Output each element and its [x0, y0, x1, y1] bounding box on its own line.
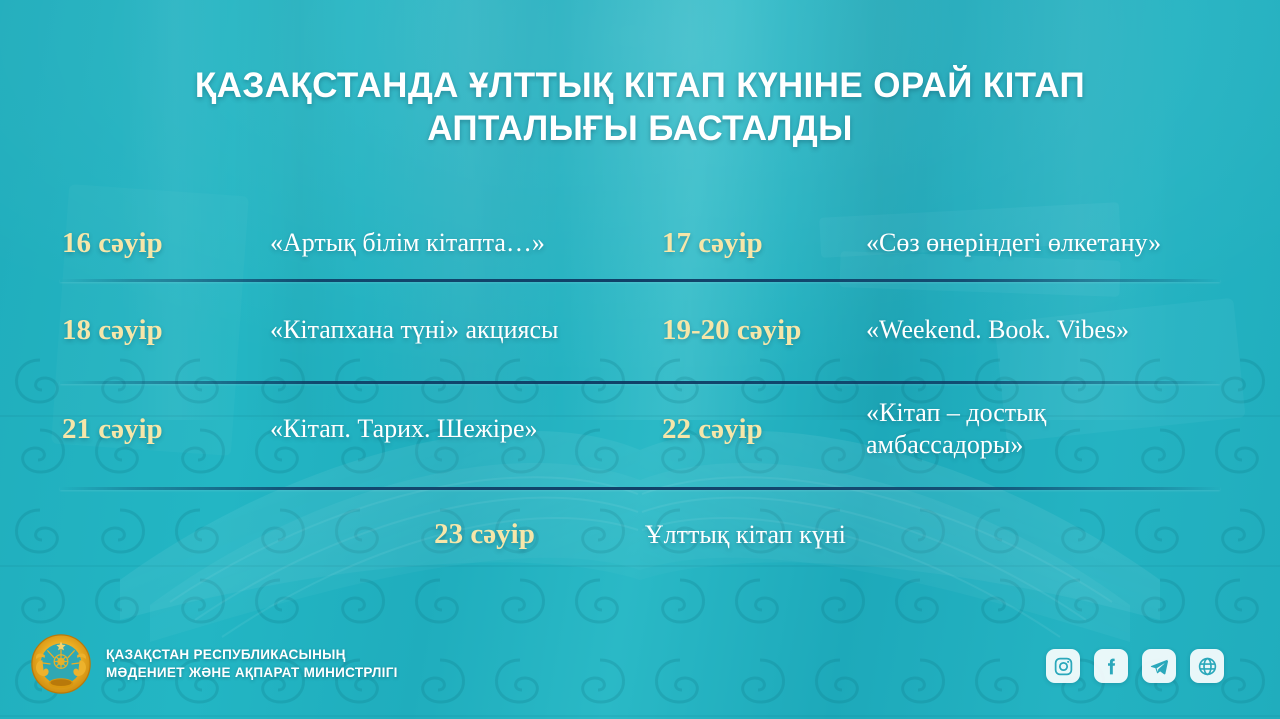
- schedule-event: Ұлттық кітап күні: [645, 519, 846, 551]
- schedule-date: 23 сәуір: [434, 518, 535, 551]
- ministry-name: ҚАЗАҚСТАН РЕСПУБЛИКАСЫНЫҢ МӘДЕНИЕТ ЖӘНЕ …: [106, 646, 398, 682]
- schedule-event: «Кітап. Тарих. Шежіре»: [270, 413, 538, 445]
- schedule-date: 19-20 сәуір: [662, 314, 866, 347]
- website-globe-icon[interactable]: [1190, 649, 1224, 683]
- schedule-cell-right: 22 сәуір «Кітап – достық амбассадоры»: [640, 379, 1280, 479]
- footer: ҚАЗАҚСТАН РЕСПУБЛИКАСЫНЫҢ МӘДЕНИЕТ ЖӘНЕ …: [0, 623, 1280, 719]
- infographic-slide: ҚАЗАҚСТАНДА ҰЛТТЫҚ КІТАП КҮНІНЕ ОРАЙ КІТ…: [0, 0, 1280, 719]
- social-links: [1046, 649, 1224, 683]
- schedule-event: «Сөз өнеріндегі өлкетану»: [866, 227, 1161, 259]
- schedule-grid: 16 сәуір «Артық білім кітапта…» 17 сәуір…: [0, 205, 1280, 479]
- schedule-event: «Артық білім кітапта…»: [270, 227, 545, 259]
- kazakhstan-state-emblem-icon: [30, 633, 92, 695]
- schedule-cell-left: 16 сәуір «Артық білім кітапта…»: [0, 205, 640, 281]
- schedule-cell-right: 19-20 сәуір «Weekend. Book. Vibes»: [640, 281, 1280, 379]
- schedule-event: «Кітап – достық амбассадоры»: [866, 397, 1096, 460]
- schedule-date: 18 сәуір: [62, 314, 270, 347]
- schedule-cell-left: 18 сәуір «Кітапхана түні» акциясы: [0, 281, 640, 379]
- schedule-date: 17 сәуір: [662, 227, 866, 260]
- facebook-icon[interactable]: [1094, 649, 1128, 683]
- schedule-event: «Кітапхана түні» акциясы: [270, 314, 558, 346]
- instagram-icon[interactable]: [1046, 649, 1080, 683]
- row-divider: [60, 279, 1220, 282]
- table-row: 21 сәуір «Кітап. Тарих. Шежіре» 22 сәуір…: [0, 379, 1280, 479]
- schedule-final-row: 23 сәуір Ұлттық кітап күні: [0, 518, 1280, 551]
- page-title: ҚАЗАҚСТАНДА ҰЛТТЫҚ КІТАП КҮНІНЕ ОРАЙ КІТ…: [0, 64, 1280, 151]
- table-row: 18 сәуір «Кітапхана түні» акциясы 19-20 …: [0, 281, 1280, 379]
- schedule-date: 16 сәуір: [62, 227, 270, 260]
- telegram-icon[interactable]: [1142, 649, 1176, 683]
- ministry-line-1: ҚАЗАҚСТАН РЕСПУБЛИКАСЫНЫҢ: [106, 646, 398, 664]
- schedule-cell-left: 21 сәуір «Кітап. Тарих. Шежіре»: [0, 379, 640, 479]
- schedule-event: «Weekend. Book. Vibes»: [866, 314, 1129, 346]
- ministry-brand: ҚАЗАҚСТАН РЕСПУБЛИКАСЫНЫҢ МӘДЕНИЕТ ЖӘНЕ …: [30, 633, 398, 695]
- row-divider: [60, 487, 1220, 490]
- ministry-line-2: МӘДЕНИЕТ ЖӘНЕ АҚПАРАТ МИНИСТРЛІГІ: [106, 664, 398, 682]
- table-row: 16 сәуір «Артық білім кітапта…» 17 сәуір…: [0, 205, 1280, 281]
- row-divider: [60, 381, 1220, 384]
- schedule-cell-right: 17 сәуір «Сөз өнеріндегі өлкетану»: [640, 205, 1280, 281]
- schedule-date: 21 сәуір: [62, 413, 270, 446]
- schedule-date: 22 сәуір: [662, 413, 866, 446]
